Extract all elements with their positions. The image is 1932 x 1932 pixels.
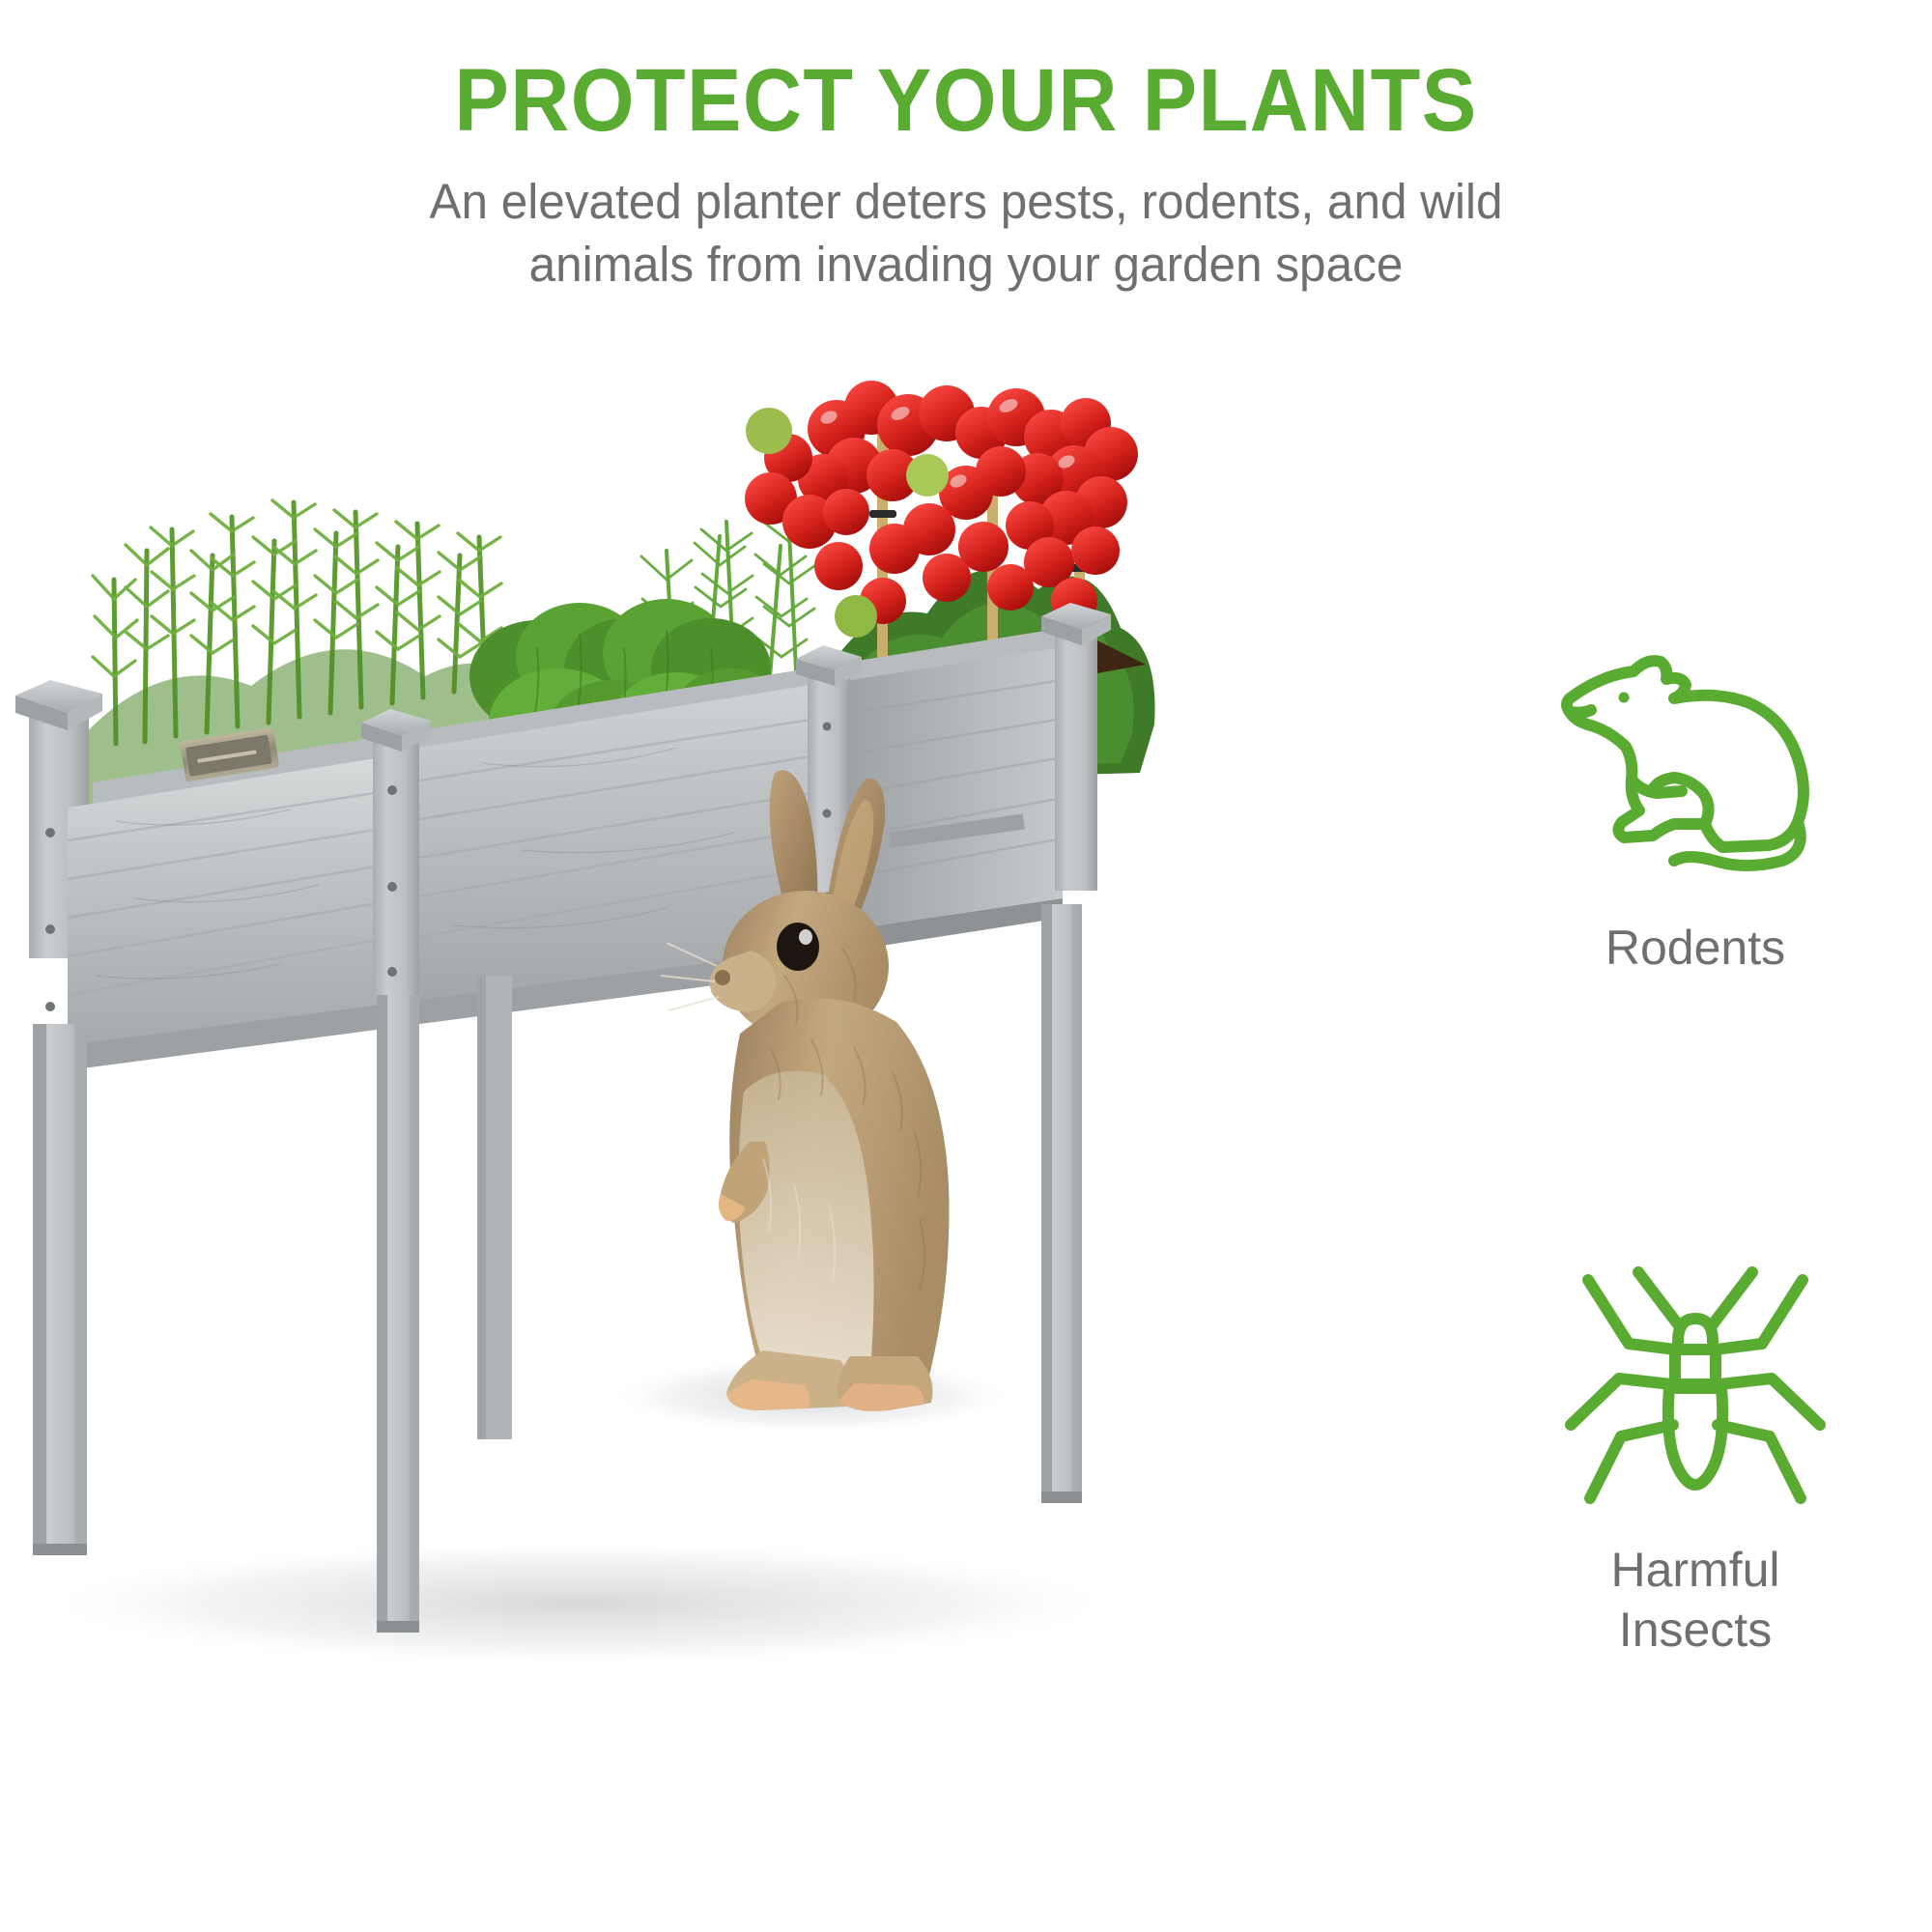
subtitle-line-2: animals from invading your garden space (343, 233, 1589, 296)
insect-icon (1459, 1240, 1932, 1530)
end-panel-right (850, 647, 1063, 929)
ground-shadow (39, 1540, 1121, 1667)
leg-back-center (477, 976, 512, 1439)
rodent-icon (1459, 618, 1932, 908)
feature-rodents-label-line1: Rodents (1459, 918, 1932, 978)
feature-rodents: Rodents (1459, 618, 1932, 978)
page-subtitle: An elevated planter deters pests, rodent… (343, 170, 1589, 297)
header: PROTECT YOUR PLANTS An elevated planter … (0, 56, 1932, 297)
feature-list: Rodents (1459, 618, 1932, 1660)
leg-front-right (1041, 904, 1082, 1503)
product-feature-image: PROTECT YOUR PLANTS An elevated planter … (0, 0, 1932, 1932)
rabbit-nose (715, 970, 730, 985)
rabbit-eye (777, 923, 819, 971)
feature-insects-label-line2: Insects (1459, 1600, 1932, 1660)
raised-garden-bed (15, 603, 1146, 1633)
product-photo (0, 357, 1468, 1710)
subtitle-line-1: An elevated planter deters pests, rodent… (343, 170, 1589, 233)
feature-harmful-insects: Harmful Insects (1459, 1240, 1932, 1660)
feature-insects-label-line1: Harmful (1459, 1540, 1932, 1600)
leg-front-left (33, 1024, 87, 1555)
page-title: PROTECT YOUR PLANTS (77, 56, 1855, 145)
leg-mid-left (377, 995, 419, 1633)
feature-rodents-label: Rodents (1459, 918, 1932, 978)
feature-insects-label: Harmful Insects (1459, 1540, 1932, 1660)
tomato-fruit-cluster (745, 381, 1138, 638)
